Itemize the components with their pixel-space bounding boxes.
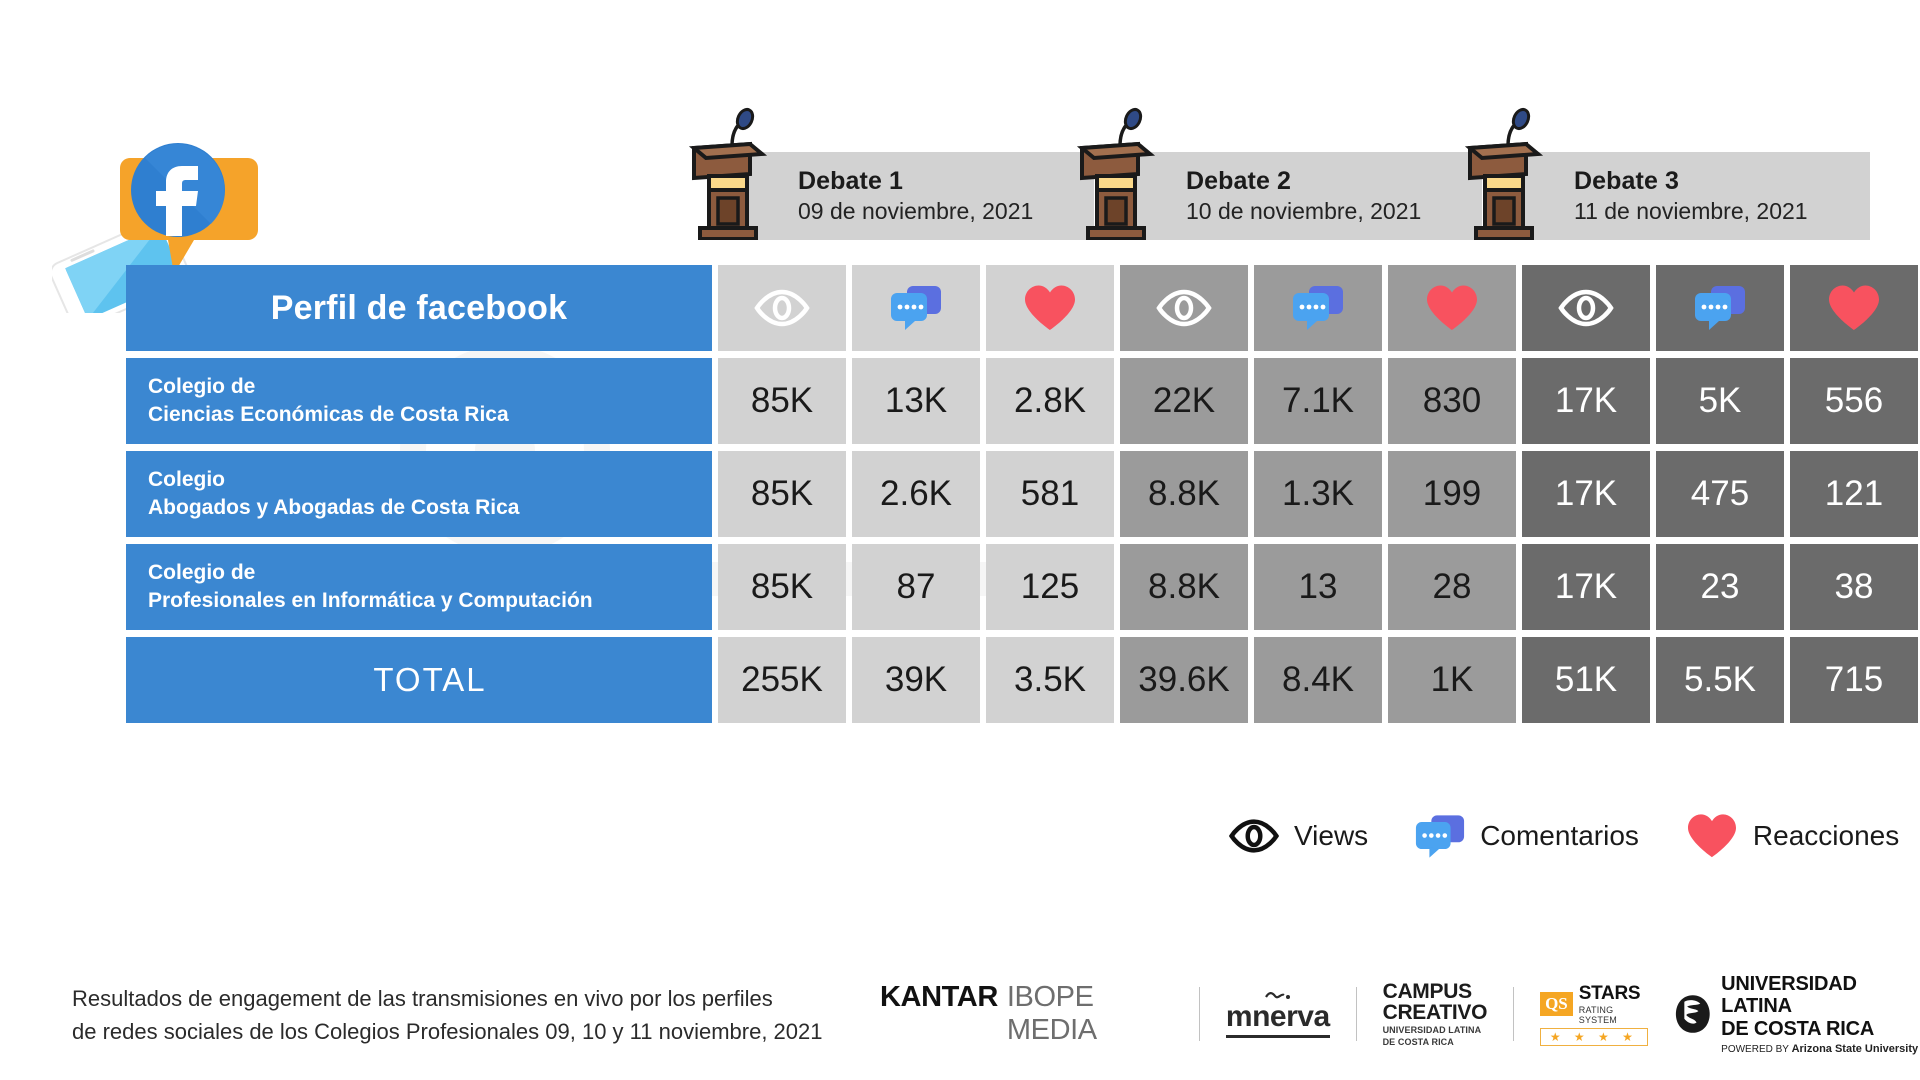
qs-badge: QS <box>1540 992 1573 1016</box>
cell-value: 87 <box>852 544 980 630</box>
ulat-asu: Arizona State University <box>1792 1043 1919 1055</box>
footer-note: Resultados de engagement de las transmis… <box>72 982 823 1048</box>
cell-value: 17K <box>1522 544 1650 630</box>
logo-divider <box>1199 987 1200 1041</box>
table-row: Colegio de Profesionales en Informática … <box>126 544 1918 630</box>
cell-value: 17K <box>1522 451 1650 537</box>
comment-icon <box>1693 284 1747 332</box>
row-label-line1: Colegio de <box>148 373 509 401</box>
footer-note-line1: Resultados de engagement de las transmis… <box>72 982 823 1015</box>
debate-date: 10 de noviembre, 2021 <box>1186 197 1421 226</box>
debate-card-2: Debate 2 10 de noviembre, 2021 <box>1100 152 1482 240</box>
cell-value: 85K <box>718 544 846 630</box>
cell-value: 38 <box>1790 544 1918 630</box>
cell-value: 581 <box>986 451 1114 537</box>
page-title: Perfil de facebook <box>271 289 567 328</box>
table-header-row: Perfil de facebook <box>126 265 1918 351</box>
minerva-logo: mnerva <box>1226 991 1330 1038</box>
kantar-wordmark: KANTAR <box>880 981 998 1014</box>
row-label-line1: Colegio de <box>148 559 593 587</box>
total-value: 39K <box>852 637 980 723</box>
footer-note-line2: de redes sociales de los Colegios Profes… <box>72 1015 823 1048</box>
legend-item-comentarios: Comentarios <box>1414 813 1639 860</box>
heart-icon <box>1826 283 1882 333</box>
comment-icon <box>1291 284 1345 332</box>
cell-value: 85K <box>718 358 846 444</box>
legend-label: Views <box>1294 820 1368 852</box>
ibope-media-wordmark: IBOPE MEDIA <box>1007 981 1173 1047</box>
header-heart-icon-d2 <box>1388 265 1516 351</box>
cell-value: 830 <box>1388 358 1516 444</box>
infographic-page: Debate 1 09 de noviembre, 2021 Debate 2 … <box>0 0 1920 1080</box>
total-value: 5.5K <box>1656 637 1784 723</box>
eye-icon <box>1228 817 1280 855</box>
cell-value: 7.1K <box>1254 358 1382 444</box>
table-row: Colegio de Ciencias Económicas de Costa … <box>126 358 1918 444</box>
cell-value: 125 <box>986 544 1114 630</box>
total-label: TOTAL <box>148 661 712 699</box>
ulat-powered-by: POWERED BY <box>1721 1044 1789 1055</box>
campus-creativo-logo: CAMPUS CREATIVO UNIVERSIDAD LATINA DE CO… <box>1383 981 1488 1047</box>
engagement-table: Perfil de facebook <box>126 265 1918 730</box>
legend-label: Reacciones <box>1753 820 1899 852</box>
header-comment-icon-d2 <box>1254 265 1382 351</box>
debate-card-3: Debate 3 11 de noviembre, 2021 <box>1488 152 1870 240</box>
debate-title: Debate 3 <box>1574 165 1808 197</box>
profile-title-cell: Perfil de facebook <box>126 265 712 351</box>
debate-date: 11 de noviembre, 2021 <box>1574 197 1808 226</box>
minerva-wordmark: mnerva <box>1226 1000 1330 1038</box>
eye-icon <box>1557 288 1615 328</box>
universidad-latina-logo: UNIVERSIDAD LATINA DE COSTA RICA POWERED… <box>1674 973 1920 1055</box>
row-label-line1: Colegio <box>148 466 519 494</box>
kantar-ibope-media-logo: KANTAR IBOPE MEDIA <box>880 981 1173 1047</box>
cell-value: 13 <box>1254 544 1382 630</box>
partner-logo-bar: KANTAR IBOPE MEDIA mnerva CAMPUS CREATIV… <box>880 978 1920 1050</box>
header-comment-icon-d1 <box>852 265 980 351</box>
podium-icon <box>676 106 786 240</box>
legend-item-views: Views <box>1228 817 1368 855</box>
legend: Views Comentarios Reacciones <box>1228 812 1899 860</box>
table-row: Colegio Abogados y Abogadas de Costa Ric… <box>126 451 1918 537</box>
podium-icon <box>1452 106 1562 240</box>
header-comment-icon-d3 <box>1656 265 1784 351</box>
header-heart-icon-d3 <box>1790 265 1918 351</box>
cell-value: 23 <box>1656 544 1784 630</box>
legend-item-reacciones: Reacciones <box>1685 812 1899 860</box>
eye-icon <box>753 288 811 328</box>
total-value: 3.5K <box>986 637 1114 723</box>
total-value: 1K <box>1388 637 1516 723</box>
total-value: 715 <box>1790 637 1918 723</box>
cell-value: 199 <box>1388 451 1516 537</box>
qs-stars-logo: QS STARS RATING SYSTEM ★ ★ ★ ★ <box>1540 983 1648 1046</box>
cell-value: 8.8K <box>1120 451 1248 537</box>
header-heart-icon-d1 <box>986 265 1114 351</box>
campus-line1: CAMPUS <box>1383 981 1488 1002</box>
debate-card-1: Debate 1 09 de noviembre, 2021 <box>712 152 1094 240</box>
cell-value: 5K <box>1656 358 1784 444</box>
legend-label: Comentarios <box>1480 820 1639 852</box>
row-label-cell: Colegio Abogados y Abogadas de Costa Ric… <box>126 451 712 537</box>
heart-icon <box>1022 283 1078 333</box>
cell-value: 85K <box>718 451 846 537</box>
row-label-line2: Ciencias Económicas de Costa Rica <box>148 401 509 429</box>
row-label-line2: Abogados y Abogadas de Costa Rica <box>148 494 519 522</box>
row-label-line2: Profesionales en Informática y Computaci… <box>148 587 593 615</box>
comment-icon <box>1414 813 1466 860</box>
header-eye-icon-d1 <box>718 265 846 351</box>
cell-value: 2.6K <box>852 451 980 537</box>
cell-value: 2.8K <box>986 358 1114 444</box>
total-value: 8.4K <box>1254 637 1382 723</box>
row-label-cell: Colegio de Ciencias Económicas de Costa … <box>126 358 712 444</box>
cell-value: 121 <box>1790 451 1918 537</box>
campus-line2: CREATIVO <box>1383 1002 1488 1023</box>
debate-title: Debate 1 <box>798 165 1033 197</box>
campus-sub1: UNIVERSIDAD LATINA <box>1383 1026 1488 1035</box>
podium-icon <box>1064 106 1174 240</box>
cell-value: 556 <box>1790 358 1918 444</box>
debate-title: Debate 2 <box>1186 165 1421 197</box>
cell-value: 8.8K <box>1120 544 1248 630</box>
minerva-squiggle-icon <box>1265 991 1291 1000</box>
total-value: 39.6K <box>1120 637 1248 723</box>
debate-header-strip: Debate 1 09 de noviembre, 2021 Debate 2 … <box>712 152 1870 240</box>
cell-value: 17K <box>1522 358 1650 444</box>
ulat-line2: DE COSTA RICA <box>1721 1018 1920 1040</box>
logo-divider <box>1513 987 1514 1041</box>
cell-value: 13K <box>852 358 980 444</box>
qs-star-rating: ★ ★ ★ ★ <box>1540 1028 1648 1046</box>
logo-divider <box>1356 987 1357 1041</box>
total-label-cell: TOTAL <box>126 637 712 723</box>
debate-date: 09 de noviembre, 2021 <box>798 197 1033 226</box>
comment-icon <box>889 284 943 332</box>
campus-sub2: DE COSTA RICA <box>1383 1038 1488 1047</box>
eye-icon <box>1155 288 1213 328</box>
cell-value: 475 <box>1656 451 1784 537</box>
table-total-row: TOTAL 255K 39K 3.5K 39.6K 8.4K 1K 51K 5.… <box>126 637 1918 723</box>
qs-subtitle: RATING SYSTEM <box>1579 1005 1648 1025</box>
header-eye-icon-d3 <box>1522 265 1650 351</box>
row-label-cell: Colegio de Profesionales en Informática … <box>126 544 712 630</box>
qs-title: STARS <box>1579 983 1648 1005</box>
total-value: 51K <box>1522 637 1650 723</box>
globe-icon <box>1674 992 1712 1036</box>
heart-icon <box>1685 812 1739 860</box>
ulat-line1: UNIVERSIDAD LATINA <box>1721 973 1920 1018</box>
heart-icon <box>1424 283 1480 333</box>
cell-value: 1.3K <box>1254 451 1382 537</box>
cell-value: 28 <box>1388 544 1516 630</box>
total-value: 255K <box>718 637 846 723</box>
cell-value: 22K <box>1120 358 1248 444</box>
header-eye-icon-d2 <box>1120 265 1248 351</box>
